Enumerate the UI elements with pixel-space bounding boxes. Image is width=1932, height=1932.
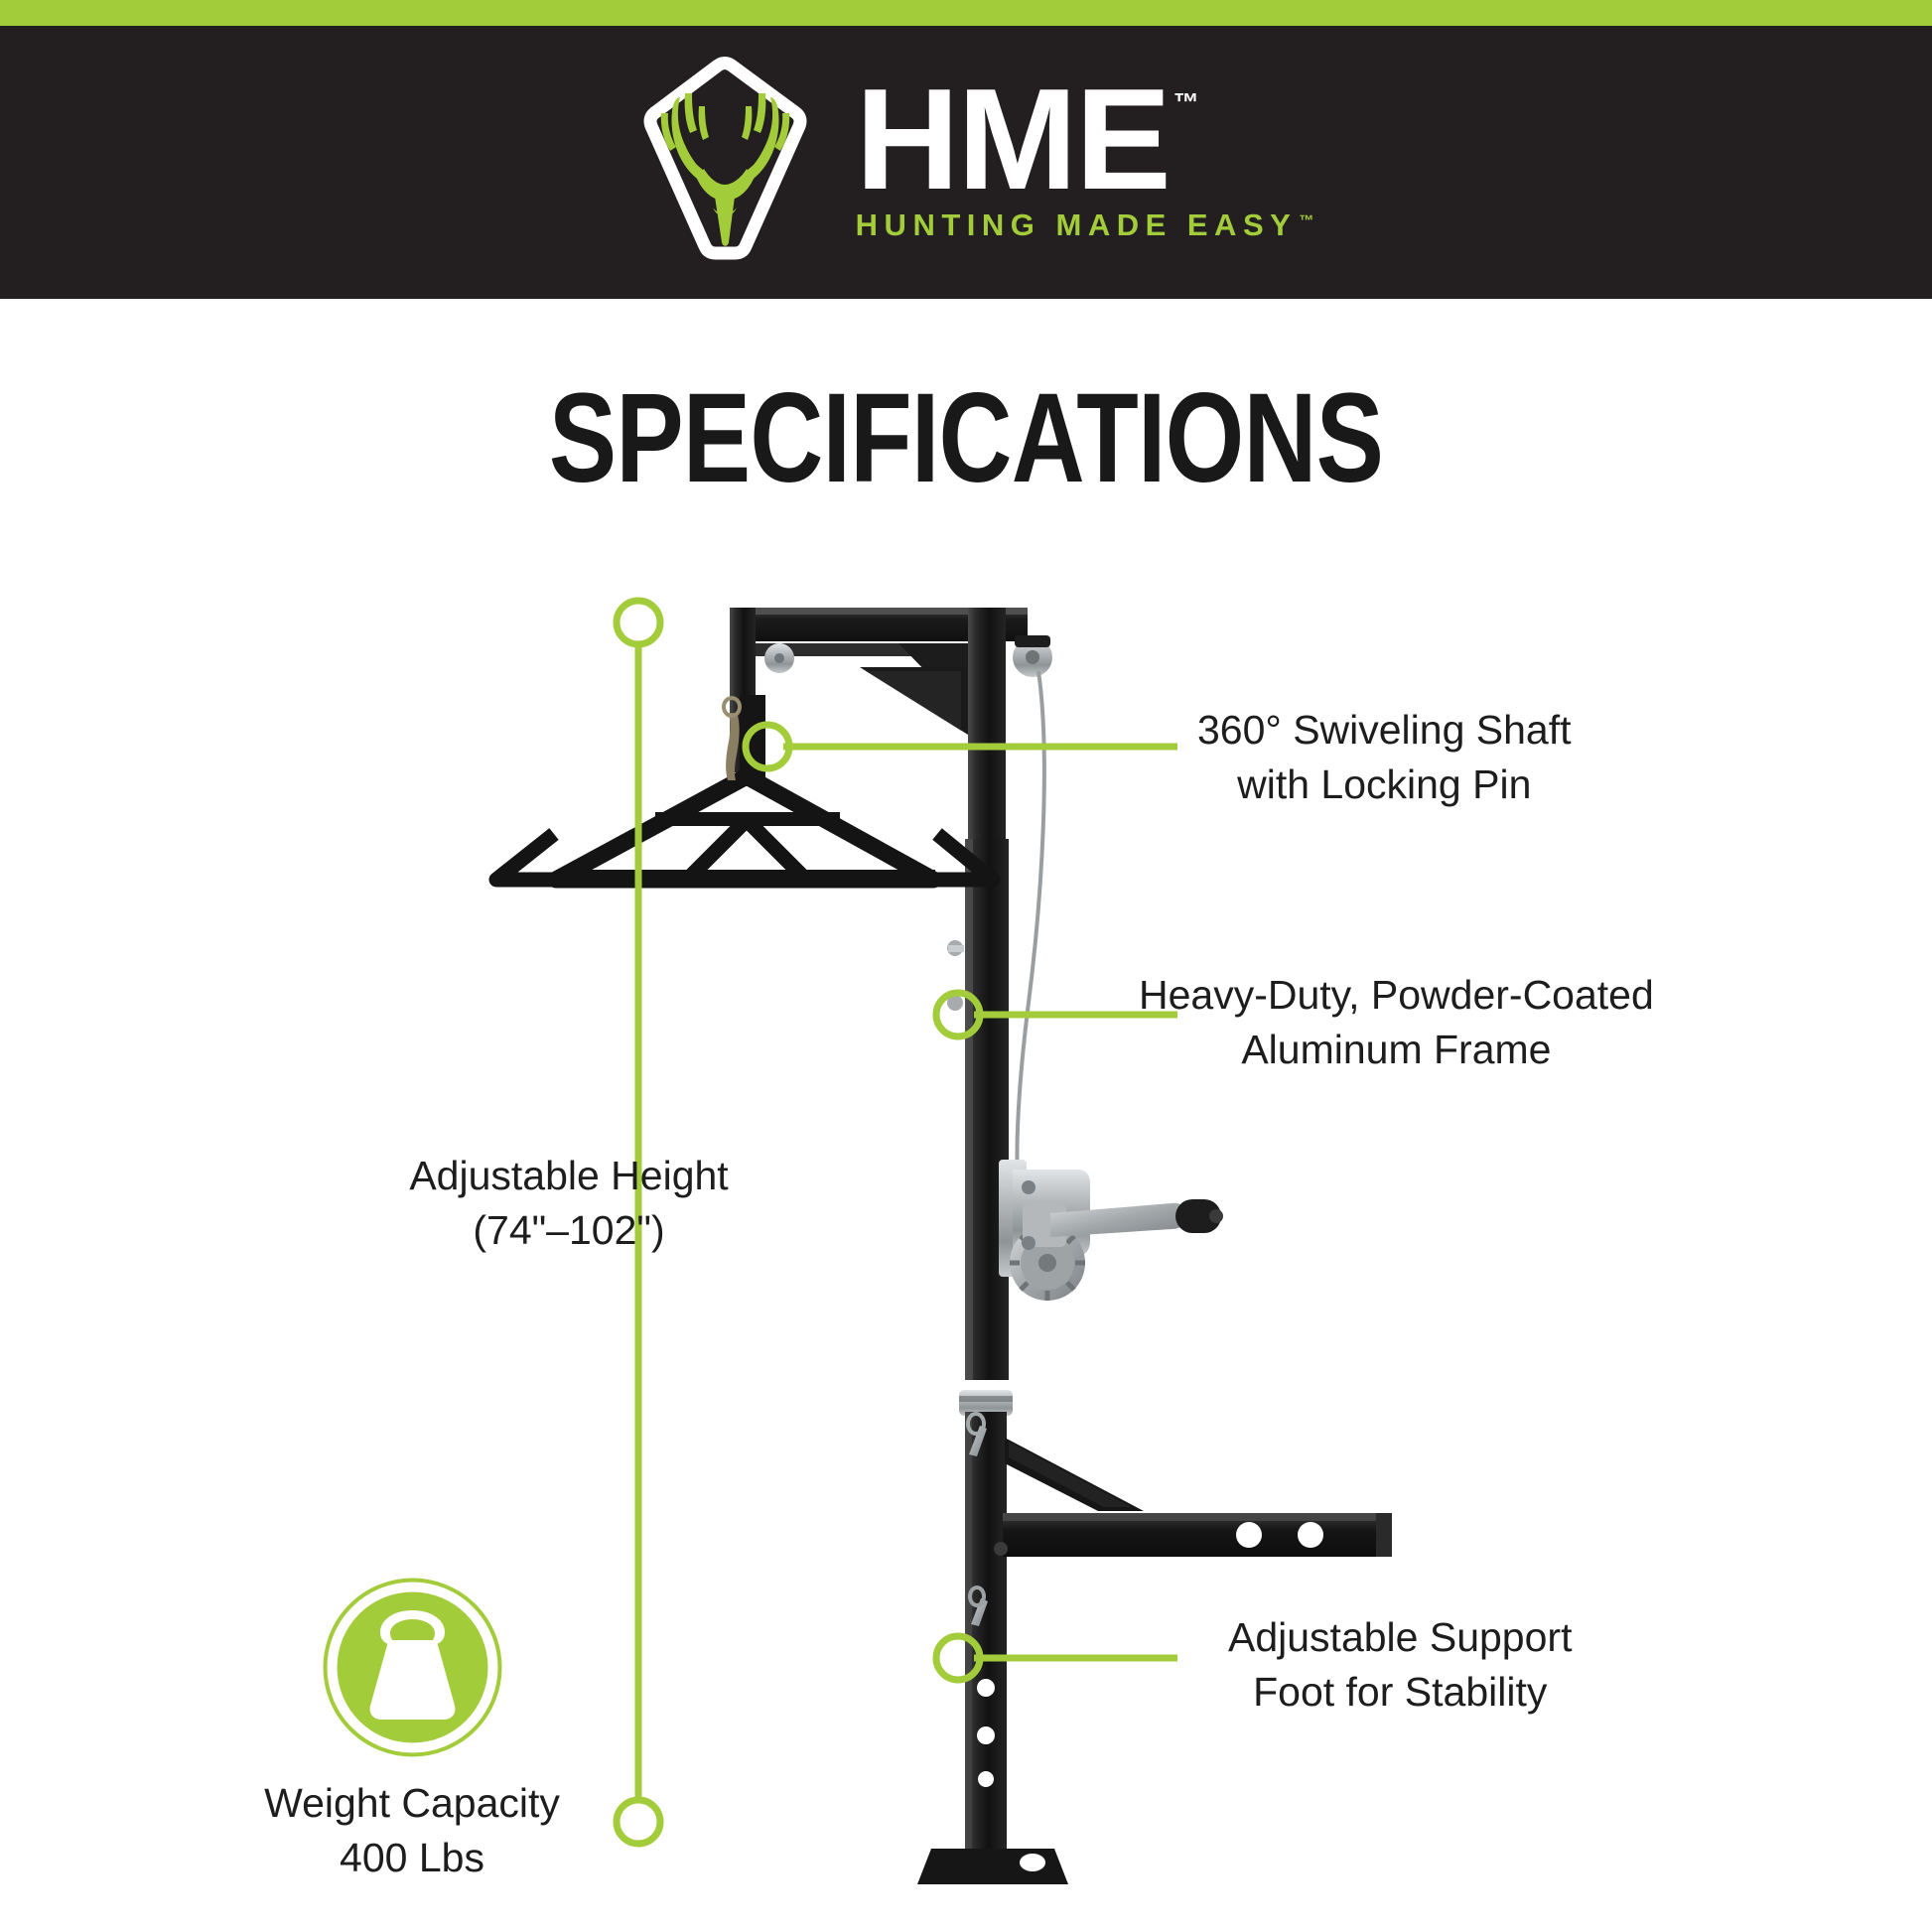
weight-kettlebell-icon [322, 1577, 503, 1758]
truss-inner-chord [655, 812, 840, 826]
base-plate [917, 1849, 1068, 1884]
callout-frame-text: Heavy-Duty, Powder-Coated Aluminum Frame [1139, 968, 1654, 1076]
base-plate-hole [1020, 1854, 1045, 1871]
weight-capacity-line2: 400 Lbs [194, 1831, 630, 1885]
hand-winch [999, 1160, 1223, 1301]
callout-foot-line1: Adjustable Support [1228, 1610, 1572, 1665]
support-arm-hole-2 [1298, 1522, 1323, 1548]
callout-foot-line2: Foot for Stability [1228, 1665, 1572, 1720]
cable-pulley [1013, 635, 1052, 677]
head-gusset-inner [866, 671, 961, 731]
dimension-dot-top [617, 601, 660, 644]
truss-left-hook [496, 834, 556, 880]
callout-swivel-line1: 360° Swiveling Shaft [1197, 703, 1572, 758]
support-foot-arm [1003, 1438, 1392, 1557]
pin-hole-2 [977, 1726, 995, 1744]
specifications-infographic: HME ™ HUNTING MADE EASY ™ SPECIFICATIONS [0, 0, 1932, 1932]
pin-hole-3 [978, 1771, 994, 1787]
callout-swivel-text: 360° Swiveling Shaft with Locking Pin [1197, 703, 1572, 811]
support-arm-hole-1 [1236, 1522, 1262, 1548]
spreader-truss [496, 776, 993, 887]
support-bolt [994, 1542, 1008, 1556]
callout-swivel-line2: with Locking Pin [1197, 758, 1572, 812]
pin-hole-1 [977, 1679, 995, 1697]
adjustable-height-line1: Adjustable Height [291, 1149, 847, 1203]
post-bolt-head-1 [948, 945, 964, 952]
callout-foot-text: Adjustable Support Foot for Stability [1228, 1610, 1572, 1719]
weight-capacity-line1: Weight Capacity [194, 1776, 630, 1831]
support-brace [1005, 1438, 1144, 1511]
post-clamp-line [959, 1396, 1013, 1402]
cable-pulley-left [764, 643, 794, 673]
adjustable-height-line2: (74"–102") [291, 1203, 847, 1258]
adjustable-height-label: Adjustable Height (74"–102") [291, 1149, 847, 1257]
callout-frame-line2: Aluminum Frame [1139, 1023, 1654, 1077]
main-post-highlight [965, 839, 973, 1380]
weight-capacity-icon-wrap [322, 1577, 503, 1758]
callout-frame-line1: Heavy-Duty, Powder-Coated [1139, 968, 1654, 1023]
weight-capacity-block: Weight Capacity 400 Lbs [194, 1577, 630, 1884]
